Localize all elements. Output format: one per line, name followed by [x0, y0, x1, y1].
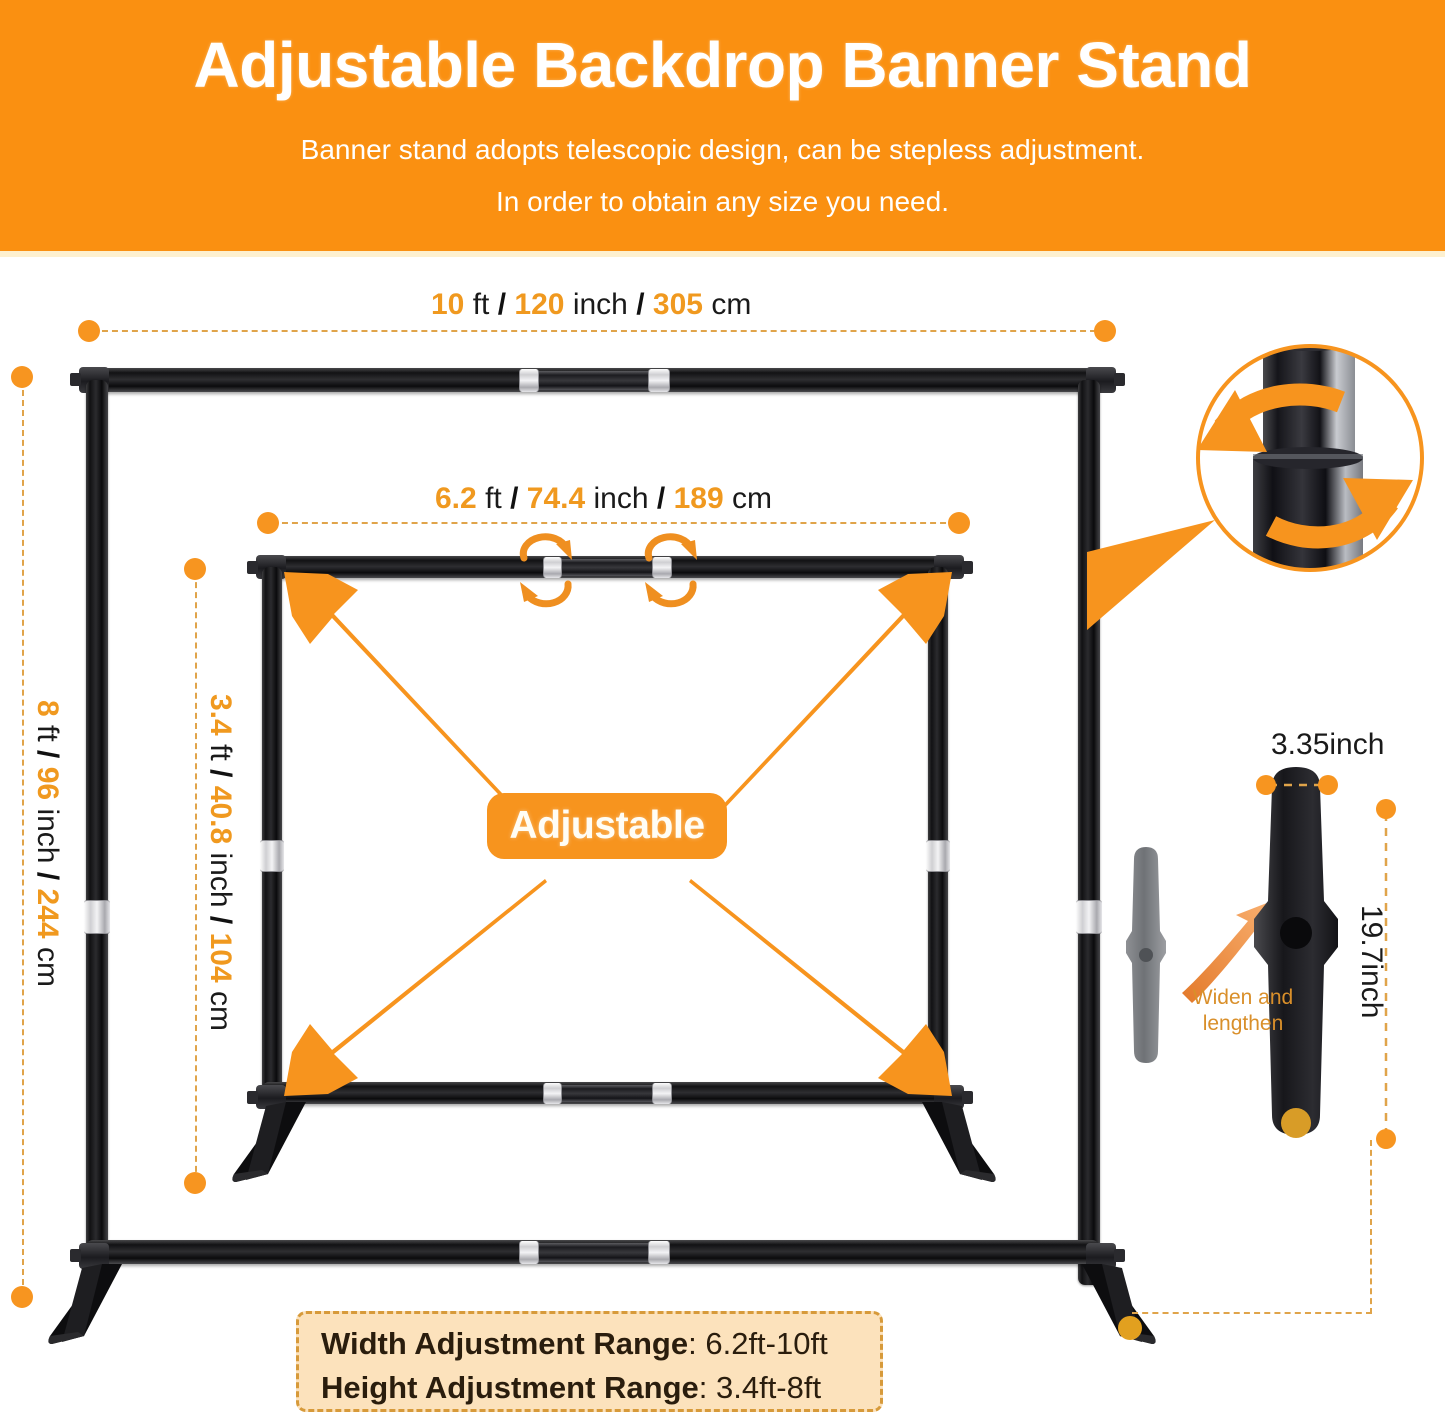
product-infographic: Adjustable Backdrop Banner Stand Banner …	[0, 0, 1445, 1420]
adjustment-range-info-box: Width Adjustment Range: 6.2ft-10ft Heigh…	[296, 1311, 883, 1412]
outer-width-cm-value: 305	[653, 288, 703, 321]
callout-pointer-wedge	[1087, 520, 1215, 630]
outer-height-dimension-line	[22, 380, 24, 1295]
inner-width-ft-value: 6.2	[435, 482, 477, 515]
inner-height-dot-bottom	[184, 1172, 206, 1194]
outer-height-label: 8 ft / 96 inch / 244 cm	[30, 700, 64, 987]
foot-height-dot-bottom	[1376, 1129, 1396, 1149]
inner-height-dot-top	[184, 558, 206, 580]
widen-lengthen-caption-line-2: lengthen	[1183, 1011, 1303, 1037]
old-base-foot-grey	[1126, 847, 1166, 1063]
outer-height-ft-unit: ft	[31, 725, 64, 742]
inner-height-cm-value: 104	[204, 933, 237, 983]
outer-height-cm-value: 244	[31, 889, 64, 939]
outer-height-dot-bottom	[11, 1286, 33, 1308]
outer-left-base-foot	[44, 1262, 140, 1336]
outer-height-dot-top	[11, 366, 33, 388]
inner-height-sep-2: /	[204, 916, 237, 924]
foot-width-dot-right	[1318, 775, 1338, 795]
inner-height-cm-unit: cm	[204, 991, 237, 1031]
widen-lengthen-caption: Widen and lengthen	[1183, 985, 1303, 1038]
outer-top-crossbar-collar-right	[648, 369, 670, 392]
adjustable-badge: Adjustable	[487, 793, 727, 859]
outer-bottom-crossbar-collar-left	[519, 1241, 539, 1264]
outer-height-sep-2: /	[31, 872, 64, 880]
inner-height-ft-value: 3.4	[204, 694, 237, 736]
telescopic-joint-callout	[1145, 330, 1445, 630]
outer-height-inch-unit: inch	[31, 808, 64, 863]
outer-width-sep-1: /	[498, 288, 506, 321]
header-divider	[0, 251, 1445, 257]
outer-width-ft-value: 10	[431, 288, 464, 321]
width-adjustment-range-label: Width Adjustment Range	[321, 1326, 688, 1361]
outer-bottom-crossbar-inner-tube	[525, 1243, 660, 1262]
outer-height-cm-unit: cm	[31, 947, 64, 987]
foot-width-label: 3.35inch	[1271, 728, 1384, 762]
outer-width-dot-left	[78, 320, 100, 342]
outer-top-crossbar-inner-tube	[525, 371, 660, 390]
inner-height-inch-unit: inch	[204, 853, 237, 908]
inner-width-cm-value: 189	[674, 482, 724, 515]
height-adjustment-range-label: Height Adjustment Range	[321, 1370, 699, 1405]
foot-callout-leader-vertical	[1370, 1140, 1372, 1314]
outer-height-inch-value: 96	[31, 767, 64, 800]
outer-width-inch-unit: inch	[573, 288, 628, 321]
outer-right-base-foot	[1050, 1262, 1146, 1336]
header-subtitle-line-1: Banner stand adopts telescopic design, c…	[0, 134, 1445, 166]
height-adjustment-range-row: Height Adjustment Range: 3.4ft-8ft	[321, 1366, 880, 1410]
inner-height-inch-value: 40.8	[204, 786, 237, 844]
foot-width-dot-left	[1256, 775, 1276, 795]
outer-width-label: 10 ft / 120 inch / 305 cm	[431, 288, 751, 322]
inner-height-dimension-line	[195, 572, 197, 1182]
width-adjustment-range-value: : 6.2ft-10ft	[688, 1326, 828, 1361]
inner-width-sep-1: /	[510, 482, 518, 515]
header-subtitle-line-2: In order to obtain any size you need.	[0, 186, 1445, 218]
inner-height-sep-1: /	[204, 769, 237, 777]
outer-width-ft-unit: ft	[473, 288, 490, 321]
expand-arrow-down-left-icon	[284, 879, 547, 1096]
outer-width-dot-right	[1094, 320, 1116, 342]
inner-width-dot-left	[257, 512, 279, 534]
inner-width-inch-unit: inch	[594, 482, 649, 515]
new-base-foot-black	[1254, 767, 1338, 1138]
page-title: Adjustable Backdrop Banner Stand	[0, 28, 1445, 102]
outer-height-sep-1: /	[31, 750, 64, 758]
outer-left-upright-pole	[86, 380, 108, 1285]
outer-width-cm-unit: cm	[711, 288, 751, 321]
inner-width-inch-value: 74.4	[527, 482, 585, 515]
outer-height-ft-value: 8	[31, 700, 64, 717]
height-adjustment-range-value: : 3.4ft-8ft	[699, 1370, 821, 1405]
inner-width-label: 6.2 ft / 74.4 inch / 189 cm	[435, 482, 772, 516]
foot-height-dot-top	[1376, 799, 1396, 819]
outer-width-dimension-line	[92, 330, 1106, 332]
outer-top-crossbar-collar-left	[519, 369, 539, 392]
outer-left-pole-collar	[84, 900, 110, 934]
foot-height-label: 19.7inch	[1354, 905, 1388, 1018]
outer-width-inch-value: 120	[514, 288, 564, 321]
outer-right-upright-pole	[1078, 380, 1100, 1285]
expand-arrow-up-right-icon	[689, 572, 952, 844]
outer-width-sep-2: /	[636, 288, 644, 321]
base-foot-comparison	[1120, 715, 1445, 1145]
outer-right-pole-collar	[1076, 900, 1102, 934]
foot-callout-leader-horizontal	[1132, 1312, 1372, 1314]
outer-bottom-crossbar-collar-right	[648, 1241, 670, 1264]
width-adjustment-range-row: Width Adjustment Range: 6.2ft-10ft	[321, 1322, 880, 1366]
widen-lengthen-caption-line-1: Widen and	[1183, 985, 1303, 1011]
inner-height-ft-unit: ft	[204, 744, 237, 761]
inner-width-cm-unit: cm	[732, 482, 772, 515]
header-banner: Adjustable Backdrop Banner Stand Banner …	[0, 0, 1445, 257]
expand-arrow-down-right-icon	[689, 879, 952, 1096]
inner-width-dot-right	[948, 512, 970, 534]
inner-width-sep-2: /	[657, 482, 665, 515]
inner-height-label: 3.4 ft / 40.8 inch / 104 cm	[203, 694, 237, 1031]
inner-width-ft-unit: ft	[485, 482, 502, 515]
inner-width-dimension-line	[272, 522, 956, 524]
